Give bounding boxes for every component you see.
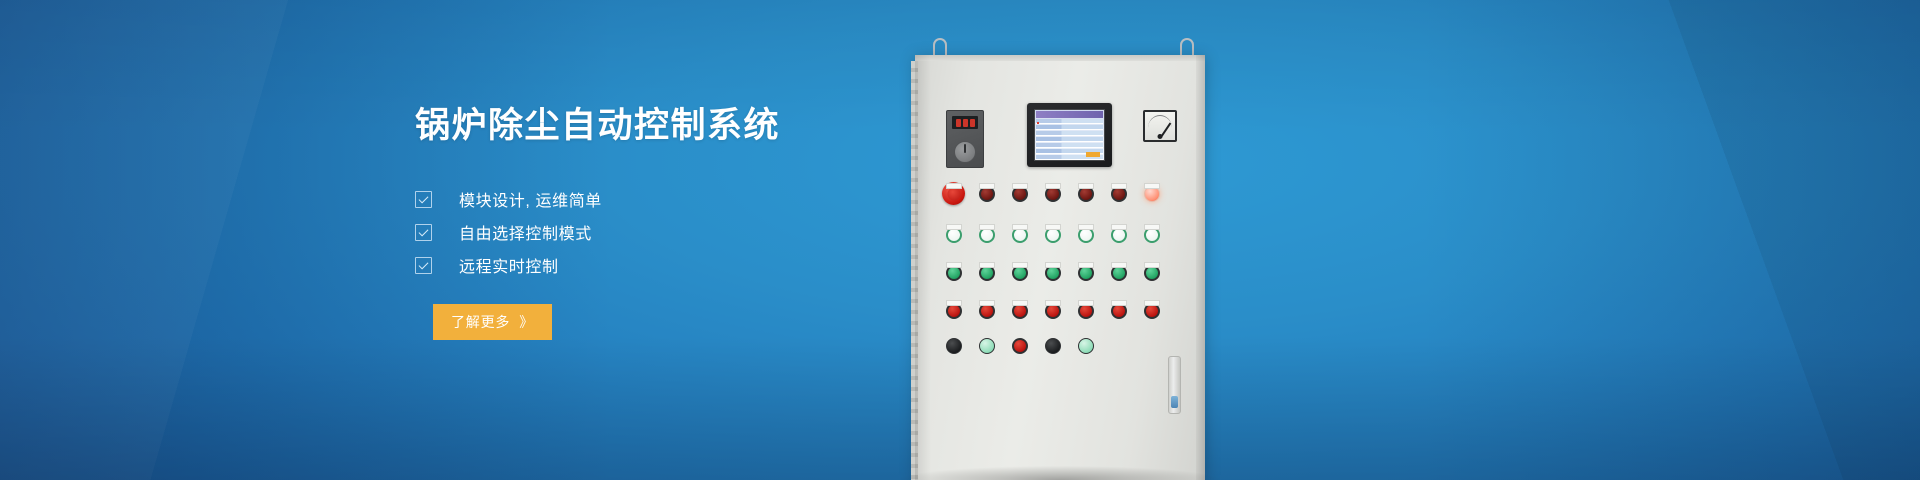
analog-meter: [1143, 110, 1177, 142]
vfd-knob-icon: [954, 141, 976, 163]
hmi-highlight-cell: [1086, 152, 1100, 157]
cabinet-body: [915, 55, 1205, 480]
vfd-keypad-module: [946, 110, 984, 168]
hmi-touchscreen: [1027, 103, 1112, 167]
cabinet-top-edge: [915, 55, 1205, 61]
feature-label: 模块设计, 运维简单: [459, 187, 602, 211]
control-cabinet-image: [880, 0, 1300, 480]
indicator-button-grid: [937, 183, 1187, 373]
feature-list: 模块设计, 运维简单 自由选择控制模式 远程实时控制: [415, 183, 955, 282]
hmi-power-led-icon: [1037, 122, 1039, 124]
vfd-display: [952, 116, 978, 129]
page-title: 锅炉除尘自动控制系统: [415, 104, 955, 148]
selector-switch[interactable]: [1078, 338, 1094, 354]
checkbox-icon: [415, 257, 432, 274]
checkbox-icon: [415, 224, 432, 241]
button-row-red: [937, 300, 1187, 319]
selector-switch[interactable]: [979, 338, 995, 354]
chevron-right-icon: 》: [519, 315, 534, 329]
hero-copy: 锅炉除尘自动控制系统 模块设计, 运维简单 自由选择控制模式 远程实时控制 了解…: [415, 104, 955, 340]
cabinet-right-edge: [1196, 55, 1205, 480]
hmi-title-bar: [1036, 111, 1103, 118]
selector-switch[interactable]: [1045, 338, 1061, 354]
button-row-white: [937, 224, 1187, 243]
cabinet-shadow: [900, 466, 1220, 480]
cabinet-door-handle[interactable]: [1168, 356, 1181, 414]
checkbox-icon: [415, 191, 432, 208]
meter-face: [1145, 112, 1175, 140]
feature-label: 自由选择控制模式: [459, 220, 592, 244]
feature-label: 远程实时控制: [459, 253, 559, 277]
button-row-emergency: [937, 183, 1187, 205]
button-row-green: [937, 262, 1187, 281]
list-item: 自由选择控制模式: [415, 216, 955, 249]
cabinet-left-shading: [915, 55, 931, 480]
learn-more-button[interactable]: 了解更多 》: [433, 304, 552, 340]
list-item: 远程实时控制: [415, 249, 955, 282]
learn-more-label: 了解更多: [451, 312, 510, 332]
list-item: 模块设计, 运维简单: [415, 183, 955, 216]
selector-switch[interactable]: [946, 338, 962, 354]
button-row-selector: [937, 338, 1187, 354]
hmi-screen: [1034, 109, 1105, 161]
selector-switch[interactable]: [1012, 338, 1028, 354]
hero-banner: 锅炉除尘自动控制系统 模块设计, 运维简单 自由选择控制模式 远程实时控制 了解…: [0, 0, 1920, 480]
